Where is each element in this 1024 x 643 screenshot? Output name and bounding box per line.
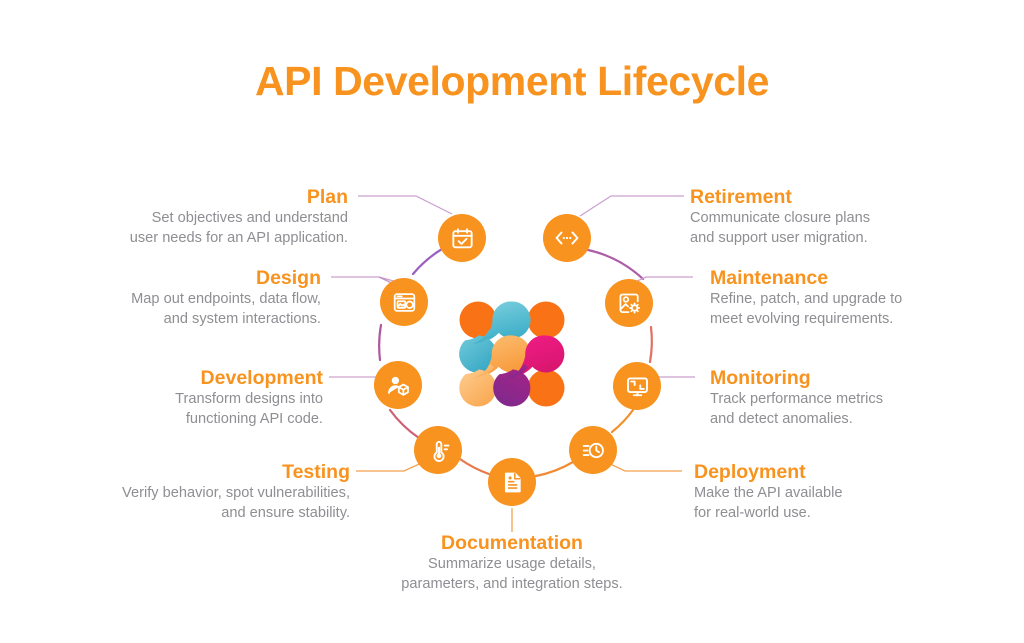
label-maintenance-desc-line1: Refine, patch, and upgrade to [710, 290, 902, 310]
label-design-desc-line1: Map out endpoints, data flow, [131, 290, 321, 310]
monitor-icon[interactable] [613, 362, 661, 410]
label-monitoring-desc-line1: Track performance metrics [710, 390, 883, 410]
label-retirement-desc-line1: Communicate closure plans [690, 209, 870, 229]
clock-speed-icon[interactable] [569, 426, 617, 474]
document-lines-icon[interactable] [488, 458, 536, 506]
label-plan-desc-line2: user needs for an API application. [130, 229, 348, 249]
label-retirement-title: Retirement [690, 186, 870, 209]
label-design-title: Design [131, 267, 321, 290]
label-testing: Testing Verify behavior, spot vulnerabil… [122, 461, 350, 523]
code-brackets-icon[interactable] [543, 214, 591, 262]
label-deployment-desc-line2: for real-world use. [694, 504, 842, 524]
label-retirement-desc-line2: and support user migration. [690, 229, 870, 249]
label-maintenance: Maintenance Refine, patch, and upgrade t… [710, 267, 902, 329]
label-retirement: Retirement Communicate closure plans and… [690, 186, 870, 248]
label-deployment-desc-line1: Make the API available [694, 484, 842, 504]
label-testing-title: Testing [122, 461, 350, 484]
label-plan: Plan Set objectives and understand user … [130, 186, 348, 248]
label-maintenance-desc-line2: meet evolving requirements. [710, 310, 902, 330]
label-deployment-title: Deployment [694, 461, 842, 484]
label-documentation-desc-line1: Summarize usage details, [0, 555, 1024, 575]
label-testing-desc-line1: Verify behavior, spot vulnerabilities, [122, 484, 350, 504]
label-plan-title: Plan [130, 186, 348, 209]
label-development: Development Transform designs into funct… [175, 367, 323, 429]
label-development-desc-line1: Transform designs into [175, 390, 323, 410]
browser-image-icon[interactable] [380, 278, 428, 326]
image-gear-icon[interactable] [605, 279, 653, 327]
user-package-icon[interactable] [374, 361, 422, 409]
label-monitoring-desc-line2: and detect anomalies. [710, 410, 883, 430]
label-deployment: Deployment Make the API available for re… [694, 461, 842, 523]
label-documentation: Documentation Summarize usage details, p… [0, 532, 1024, 594]
infographic-canvas: API Development Lifecycle [0, 0, 1024, 643]
label-maintenance-title: Maintenance [710, 267, 902, 290]
page-title: API Development Lifecycle [0, 58, 1024, 105]
label-development-desc-line2: functioning API code. [175, 410, 323, 430]
thermometer-icon[interactable] [414, 426, 462, 474]
label-development-title: Development [175, 367, 323, 390]
label-monitoring: Monitoring Track performance metrics and… [710, 367, 883, 429]
label-design: Design Map out endpoints, data flow, and… [131, 267, 321, 329]
label-documentation-desc-line2: parameters, and integration steps. [0, 575, 1024, 595]
label-monitoring-title: Monitoring [710, 367, 883, 390]
label-documentation-title: Documentation [0, 532, 1024, 555]
label-plan-desc-line1: Set objectives and understand [130, 209, 348, 229]
label-testing-desc-line2: and ensure stability. [122, 504, 350, 524]
calendar-check-icon[interactable] [438, 214, 486, 262]
label-design-desc-line2: and system interactions. [131, 310, 321, 330]
